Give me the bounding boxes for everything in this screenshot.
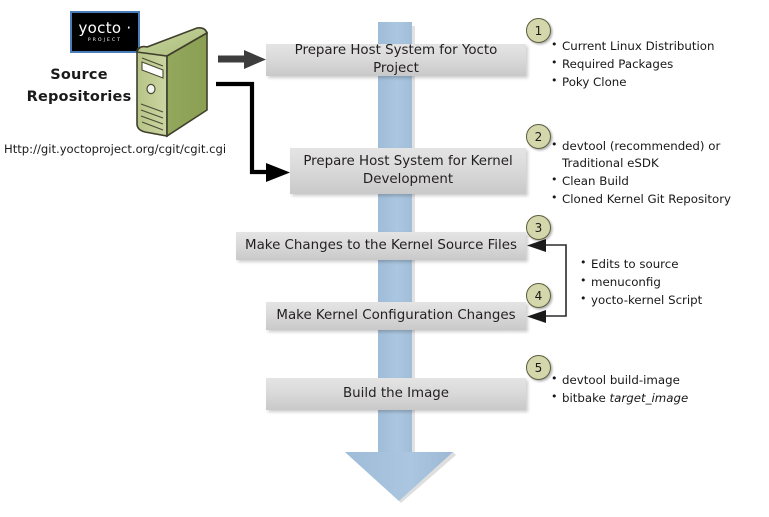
list-item: Cloned Kernel Git Repository xyxy=(551,191,736,208)
process-box-2-label: Prepare Host System for Kernel Developme… xyxy=(303,153,512,189)
list-item-emphasis: target_image xyxy=(610,391,689,405)
list-item: Edits to source xyxy=(580,256,760,273)
list-item: yocto-kernel Script xyxy=(580,292,760,309)
process-box-2-label-line2: Development xyxy=(363,172,453,187)
step-number-1-label: 1 xyxy=(535,24,543,38)
connector-server-to-box1 xyxy=(218,50,266,69)
list-item: devtool build-image xyxy=(551,372,751,389)
step-number-5-label: 5 xyxy=(535,361,543,375)
step-number-4: 4 xyxy=(526,283,551,308)
process-box-make-source-changes[interactable]: Make Changes to the Kernel Source Files xyxy=(236,232,526,260)
process-box-1-label: Prepare Host System for Yocto Project xyxy=(274,42,518,78)
step-number-4-label: 4 xyxy=(535,289,543,303)
step-number-1: 1 xyxy=(526,18,551,43)
list-item: Poky Clone xyxy=(551,74,756,91)
step-number-3: 3 xyxy=(526,215,551,240)
step-1-bullet-list: Current Linux Distribution Required Pack… xyxy=(551,38,756,92)
step-5-bullet-list: devtool build-image bitbake target_image xyxy=(551,372,751,408)
process-box-make-config-changes[interactable]: Make Kernel Configuration Changes xyxy=(266,302,526,330)
list-item: menuconfig xyxy=(580,274,760,291)
list-item: bitbake target_image xyxy=(551,390,751,407)
process-box-3-label: Make Changes to the Kernel Source Files xyxy=(245,237,517,255)
process-box-prepare-host-kernel[interactable]: Prepare Host System for Kernel Developme… xyxy=(290,148,526,194)
process-box-build-image[interactable]: Build the Image xyxy=(266,378,526,410)
list-item-text: bitbake xyxy=(562,391,610,405)
list-item: devtool (recommended) or Traditional eSD… xyxy=(551,138,736,172)
list-item: Current Linux Distribution xyxy=(551,38,756,55)
list-item-text: devtool build-image xyxy=(562,373,680,387)
process-box-4-label: Make Kernel Configuration Changes xyxy=(276,307,515,325)
step-3-4-bullet-list: Edits to source menuconfig yocto-kernel … xyxy=(580,256,760,310)
list-item: Required Packages xyxy=(551,56,756,73)
list-item: Clean Build xyxy=(551,173,736,190)
process-box-5-label: Build the Image xyxy=(343,385,449,403)
step-number-2: 2 xyxy=(526,124,551,149)
connector-server-to-box2 xyxy=(216,84,290,182)
step-2-bullet-list: devtool (recommended) or Traditional eSD… xyxy=(551,138,736,209)
step-number-5: 5 xyxy=(526,355,551,380)
process-box-prepare-host-yocto[interactable]: Prepare Host System for Yocto Project xyxy=(266,44,526,76)
step-number-2-label: 2 xyxy=(535,130,543,144)
process-box-2-label-line1: Prepare Host System for Kernel xyxy=(303,154,512,169)
connector-bracket-steps-3-4 xyxy=(527,239,566,323)
step-number-3-label: 3 xyxy=(535,221,543,235)
